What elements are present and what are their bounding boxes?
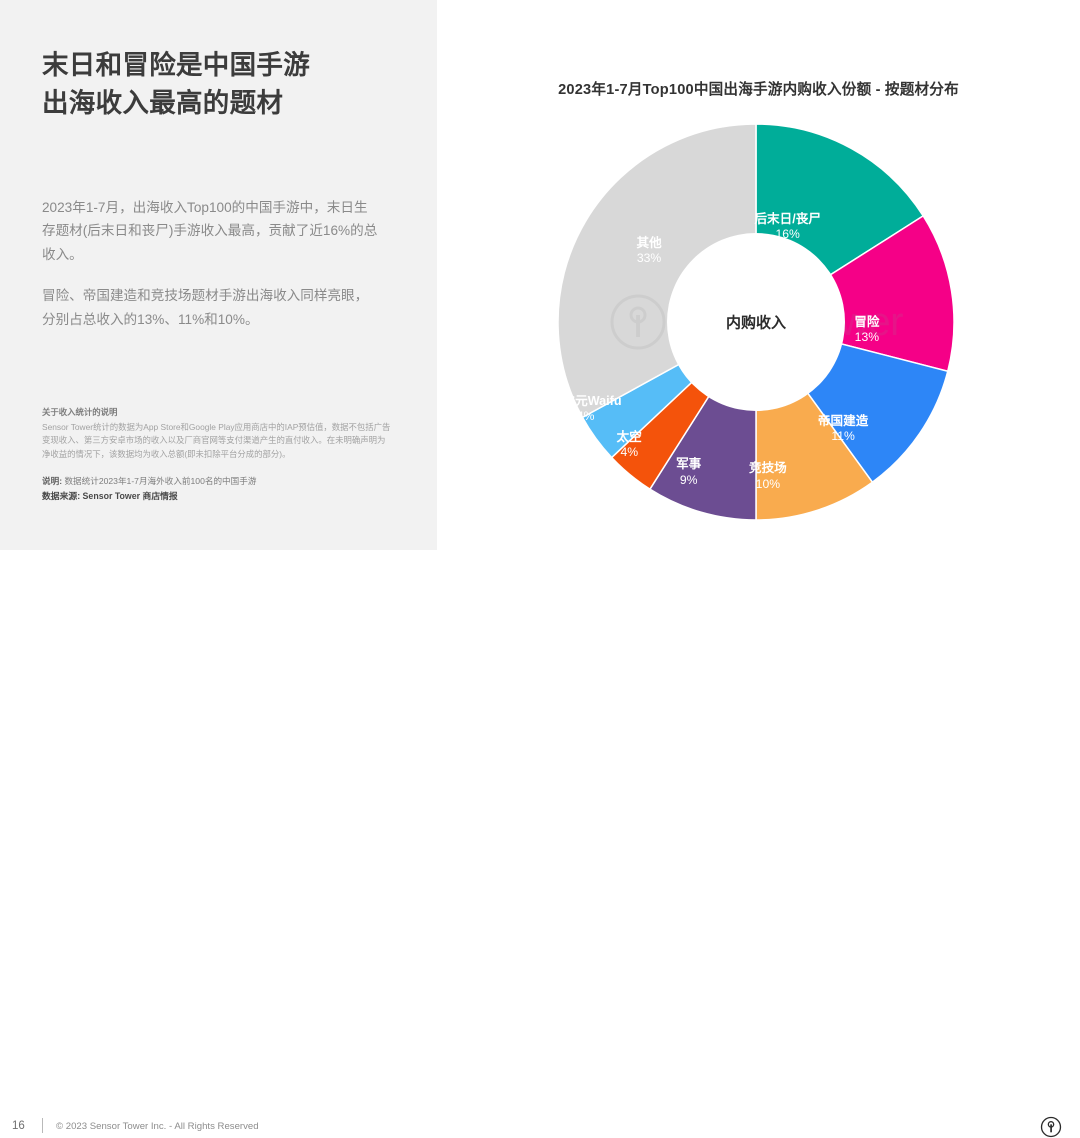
sensor-tower-logo-icon [1040,1116,1062,1138]
footnote-heading: 关于收入统计的说明 [42,406,392,419]
left-panel: 末日和冒险是中国手游 出海收入最高的题材 2023年1-7月，出海收入Top10… [0,0,437,550]
footnote-block: 关于收入统计的说明 Sensor Tower统计的数据为App Store和Go… [42,406,392,504]
page-title: 末日和冒险是中国手游 出海收入最高的题材 [42,47,412,122]
copyright-text: © 2023 Sensor Tower Inc. - All Rights Re… [56,1121,259,1132]
body-paragraph-2: 冒险、帝国建造和竞技场题材手游出海收入同样亮眼，分别占总收入的13%、11%和1… [42,284,378,331]
footnote-source: 数据来源: Sensor Tower 商店情报 [42,489,392,504]
body-paragraph-1: 2023年1-7月，出海收入Top100的中国手游中，末日生存题材(后末日和丧尸… [42,196,378,266]
footer: 16 © 2023 Sensor Tower Inc. - All Rights… [0,550,1080,602]
slide: 末日和冒险是中国手游 出海收入最高的题材 2023年1-7月，出海收入Top10… [0,0,1080,602]
donut-center-label: 内购收入 [726,312,786,333]
footnote-note-label: 说明: [42,476,62,486]
page-number: 16 [12,1120,25,1132]
footer-divider [42,1118,43,1133]
footnote-note-value: 数据统计2023年1-7月海外收入前100名的中国手游 [64,476,256,486]
donut-chart: SensorTower 内购收入 后末日/丧尸16%冒险13%帝国建造11%竞技… [558,124,954,520]
footnote-body: Sensor Tower统计的数据为App Store和Google Play应… [42,421,392,462]
chart-title: 2023年1-7月Top100中国出海手游内购收入份额 - 按题材分布 [437,78,1080,99]
body-copy: 2023年1-7月，出海收入Top100的中国手游中，末日生存题材(后末日和丧尸… [42,196,378,331]
chart-panel: 2023年1-7月Top100中国出海手游内购收入份额 - 按题材分布 Sens… [437,0,1080,550]
footnote-note: 说明: 数据统计2023年1-7月海外收入前100名的中国手游 [42,474,392,489]
